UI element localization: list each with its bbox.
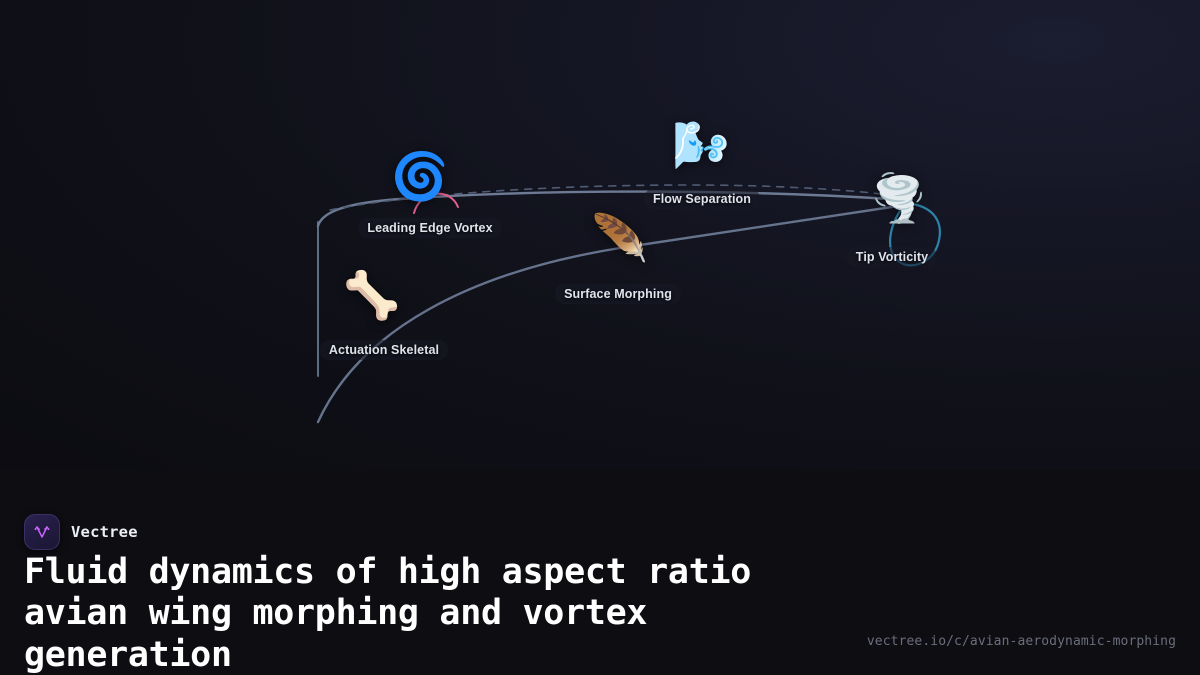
node-label-surface-morphing: Surface Morphing — [555, 284, 681, 304]
permalink-url: vectree.io/c/avian-aerodynamic-morphing — [867, 634, 1176, 649]
feather-icon: 🪶 — [591, 215, 648, 261]
node-actuation-skeletal[interactable]: 🦴 — [343, 272, 400, 318]
node-label-flow-separation: Flow Separation — [644, 189, 760, 209]
tornado-icon: 🌪️ — [870, 175, 927, 221]
cyclone-icon: 🌀 — [391, 153, 448, 199]
node-label-leading-edge-vortex: Leading Edge Vortex — [358, 218, 501, 238]
screenshot-root: 🌀 🌬️ 🌪️ 🪶 🦴 Leading Edge Vortex Flow Sep… — [0, 0, 1200, 675]
diagram-canvas[interactable]: 🌀 🌬️ 🌪️ 🪶 🦴 Leading Edge Vortex Flow Sep… — [0, 0, 1200, 470]
footer: Vectree Fluid dynamics of high aspect ra… — [0, 470, 1200, 675]
node-tip-vorticity[interactable]: 🌪️ — [870, 175, 927, 221]
vectree-logo-badge[interactable] — [24, 514, 60, 550]
wind-face-icon: 🌬️ — [672, 122, 729, 168]
page-title: Fluid dynamics of high aspect ratio avia… — [24, 552, 824, 675]
node-label-actuation-skeletal: Actuation Skeletal — [320, 340, 448, 360]
brand-name: Vectree — [71, 523, 138, 541]
vectree-tree-v-icon — [32, 522, 52, 542]
node-leading-edge-vortex[interactable]: 🌀 — [391, 153, 448, 199]
bone-icon: 🦴 — [343, 272, 400, 318]
brand-row[interactable]: Vectree — [24, 514, 138, 550]
node-surface-morphing[interactable]: 🪶 — [591, 215, 648, 261]
node-label-tip-vorticity: Tip Vorticity — [847, 247, 937, 267]
node-flow-separation[interactable]: 🌬️ — [672, 122, 729, 168]
